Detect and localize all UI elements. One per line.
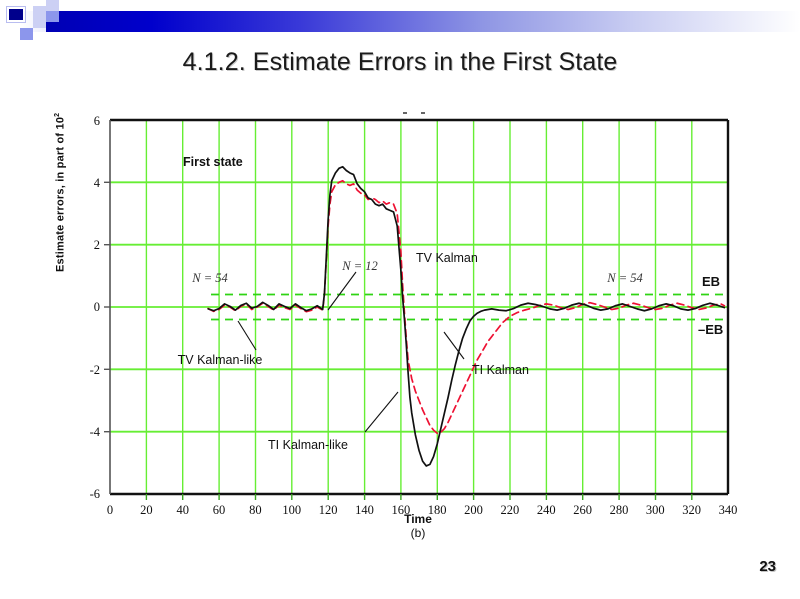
x-tick-label: 80 bbox=[249, 503, 261, 517]
x-tick-label: 40 bbox=[176, 503, 189, 517]
x-tick-label: 140 bbox=[355, 503, 374, 517]
x-tick-label: 280 bbox=[610, 503, 629, 517]
y-tick-marks bbox=[104, 182, 110, 431]
banner-square-mid-a bbox=[46, 11, 59, 22]
slide-banner bbox=[0, 0, 800, 46]
x-tick-label: 20 bbox=[140, 503, 153, 517]
state-label: First state bbox=[183, 155, 243, 169]
svg-text:-2: -2 bbox=[90, 363, 100, 377]
annotation-ti-kalman-like: TI Kalman-like bbox=[268, 438, 348, 452]
x-tick-label: 100 bbox=[282, 503, 301, 517]
annotation-n54-left: N = 54 bbox=[191, 271, 228, 285]
annotation-eb-upper: EB bbox=[702, 274, 720, 289]
x-tick-label: 340 bbox=[719, 503, 738, 517]
banner-square-dark bbox=[9, 9, 23, 20]
x-axis-caption: Time (b) bbox=[378, 512, 458, 540]
annotation-ti-kalman: TI Kalman bbox=[472, 363, 529, 377]
y-axis-label: Estimate errors, in part of 102 bbox=[54, 113, 67, 272]
banner-square-mid-b bbox=[20, 28, 33, 40]
svg-text:-6: -6 bbox=[90, 487, 100, 501]
x-tick-label: 240 bbox=[537, 503, 556, 517]
x-tick-label: 0 bbox=[107, 503, 113, 517]
svg-text:2: 2 bbox=[94, 238, 100, 252]
y-axis-label-text: Estimate errors, in part of 10 bbox=[55, 117, 67, 272]
figure-container: Estimate errors, in part of 102 bbox=[60, 104, 760, 554]
banner-square-light-b bbox=[46, 0, 59, 11]
svg-text:-4: -4 bbox=[90, 425, 101, 439]
top-artifact-marks bbox=[403, 112, 425, 114]
banner-square-light-c bbox=[33, 17, 46, 28]
figure-subcaption: (b) bbox=[378, 526, 458, 540]
svg-text:0: 0 bbox=[94, 300, 100, 314]
page-title: 4.1.2. Estimate Errors in the First Stat… bbox=[0, 48, 800, 77]
estimate-errors-plot: 6 4 2 0 -2 -4 -6 0204 bbox=[60, 104, 760, 554]
svg-text:4: 4 bbox=[94, 176, 101, 190]
annotation-n12: N = 12 bbox=[341, 259, 378, 273]
x-tick-label: 320 bbox=[682, 503, 701, 517]
x-tick-label: 300 bbox=[646, 503, 665, 517]
annotation-tv-kalman: TV Kalman bbox=[416, 251, 478, 265]
slide-number: 23 bbox=[759, 558, 776, 575]
annotation-eb-lower: –EB bbox=[698, 322, 723, 337]
y-axis-label-exponent: 2 bbox=[54, 113, 61, 117]
annotation-tv-kalman-like: TV Kalman-like bbox=[178, 353, 263, 367]
x-tick-label: 220 bbox=[501, 503, 520, 517]
y-tick-labels: 6 4 2 0 -2 -4 -6 bbox=[90, 114, 101, 501]
x-tick-label: 120 bbox=[319, 503, 338, 517]
x-tick-label: 60 bbox=[213, 503, 226, 517]
x-tick-label: 200 bbox=[464, 503, 483, 517]
annotation-n54-right: N = 54 bbox=[606, 271, 643, 285]
x-tick-label: 260 bbox=[573, 503, 592, 517]
svg-text:6: 6 bbox=[94, 114, 100, 128]
banner-gradient-bar bbox=[46, 11, 800, 32]
banner-square-light-a bbox=[33, 6, 46, 17]
x-axis-label: Time bbox=[378, 512, 458, 526]
